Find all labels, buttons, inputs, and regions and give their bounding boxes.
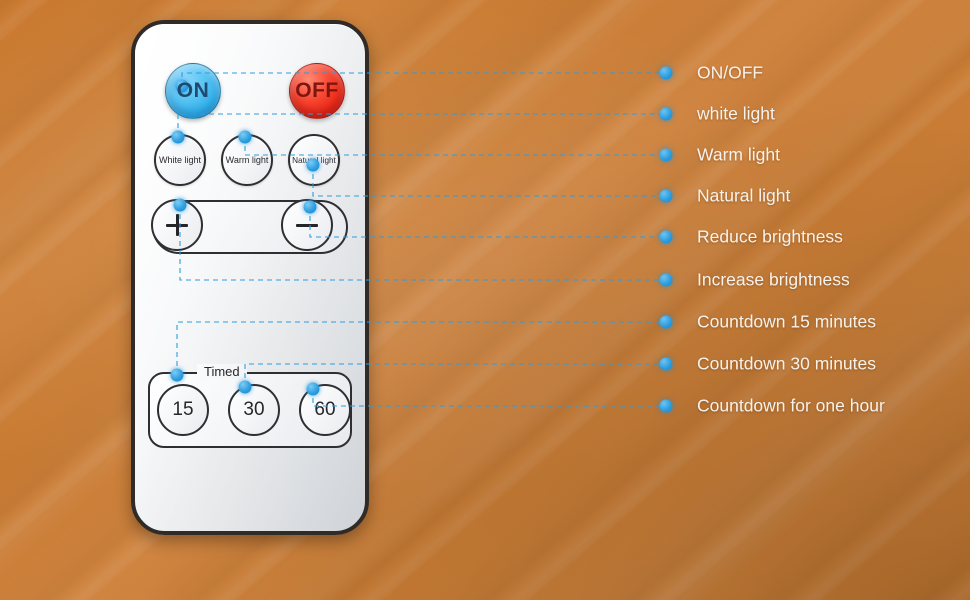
timed-group-legend: Timed: [197, 364, 247, 379]
minus-icon: [296, 214, 318, 236]
timer-15-button[interactable]: 15: [157, 384, 209, 436]
warm-light-button[interactable]: Warm light: [221, 134, 273, 186]
timer-15-label: 15: [172, 399, 193, 421]
reduce-brightness-button[interactable]: [281, 199, 333, 251]
power-off-button[interactable]: OFF: [289, 63, 345, 119]
natural-light-button[interactable]: Natural light: [288, 134, 340, 186]
power-on-button[interactable]: ON: [165, 63, 221, 119]
timer-60-label: 60: [314, 399, 335, 421]
white-light-label: White light: [159, 155, 201, 165]
power-on-label: ON: [177, 79, 210, 103]
plus-icon: [166, 214, 188, 236]
white-light-button[interactable]: White light: [154, 134, 206, 186]
timer-60-button[interactable]: 60: [299, 384, 351, 436]
screenshot-root: ON OFF White light Warm light Natural li…: [0, 0, 970, 600]
power-off-label: OFF: [295, 79, 339, 103]
natural-light-label: Natural light: [292, 156, 336, 165]
timer-30-label: 30: [243, 399, 264, 421]
warm-light-label: Warm light: [226, 155, 269, 165]
remote-control-body: ON OFF White light Warm light Natural li…: [131, 20, 369, 535]
increase-brightness-button[interactable]: [151, 199, 203, 251]
timer-30-button[interactable]: 30: [228, 384, 280, 436]
